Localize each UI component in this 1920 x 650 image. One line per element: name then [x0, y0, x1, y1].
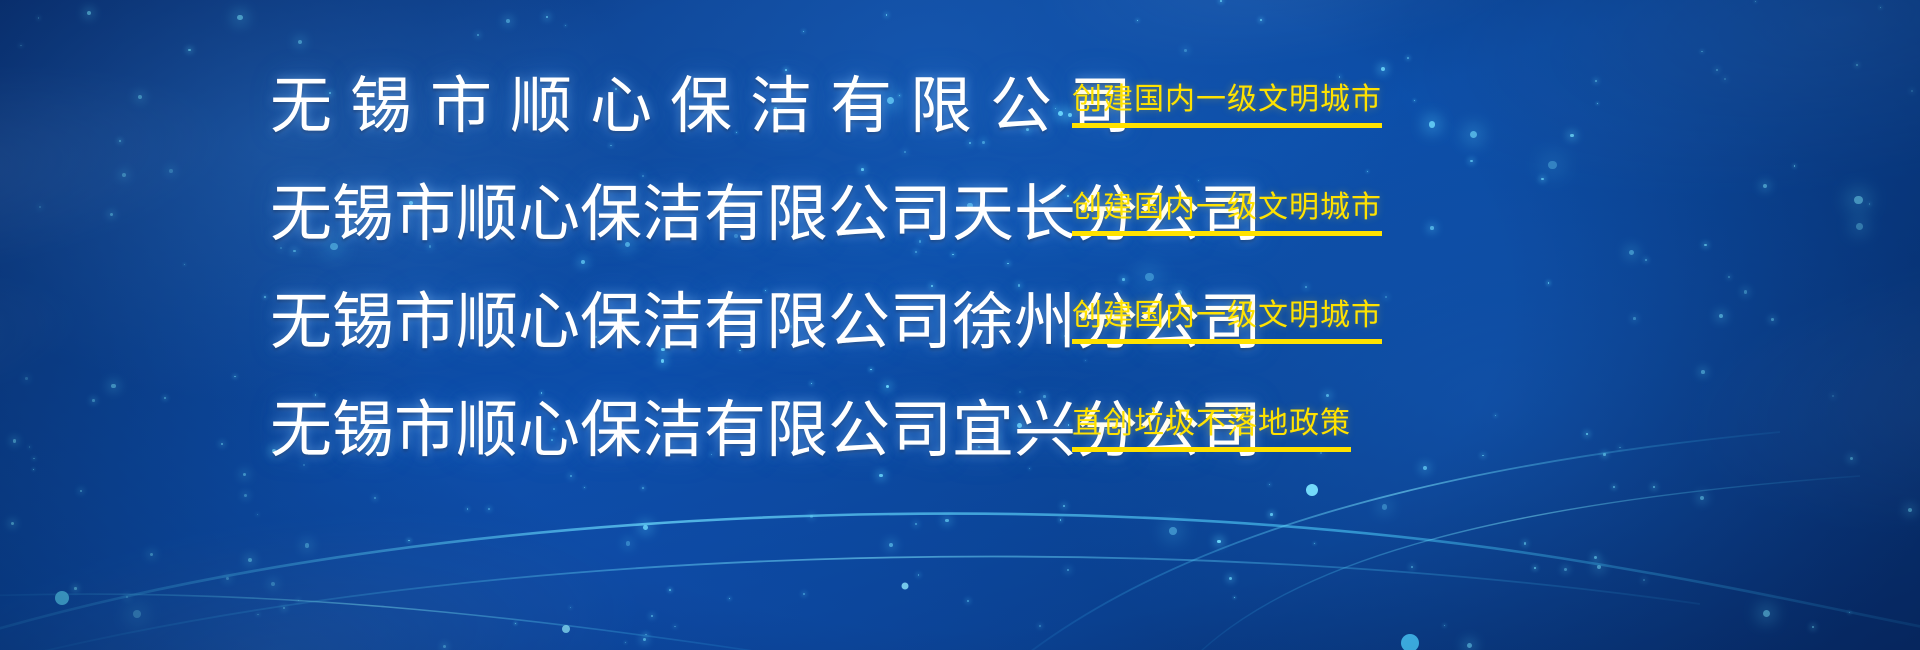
- company-banner: 无锡市顺心保洁有限公司 创建国内一级文明城市 无锡市顺心保洁有限公司天长分公司 …: [0, 0, 1920, 650]
- slogan-tag: 直创垃圾不落地政策: [1072, 409, 1351, 452]
- banner-row: 无锡市顺心保洁有限公司徐州分公司 创建国内一级文明城市: [0, 268, 1920, 376]
- banner-row: 无锡市顺心保洁有限公司宜兴分公司 直创垃圾不落地政策: [0, 376, 1920, 484]
- slogan-tag: 创建国内一级文明城市: [1072, 301, 1382, 344]
- banner-row: 无锡市顺心保洁有限公司 创建国内一级文明城市: [0, 52, 1920, 160]
- company-title-tianchang: 无锡市顺心保洁有限公司天长分公司: [0, 183, 1050, 245]
- company-title-xuzhou: 无锡市顺心保洁有限公司徐州分公司: [0, 291, 1050, 353]
- company-title-yixing: 无锡市顺心保洁有限公司宜兴分公司: [0, 399, 1050, 461]
- company-title-main: 无锡市顺心保洁有限公司: [0, 75, 1050, 137]
- slogan-tag: 创建国内一级文明城市: [1072, 193, 1382, 236]
- banner-row: 无锡市顺心保洁有限公司天长分公司 创建国内一级文明城市: [0, 160, 1920, 268]
- slogan-tag: 创建国内一级文明城市: [1072, 85, 1382, 128]
- banner-rows: 无锡市顺心保洁有限公司 创建国内一级文明城市 无锡市顺心保洁有限公司天长分公司 …: [0, 0, 1920, 650]
